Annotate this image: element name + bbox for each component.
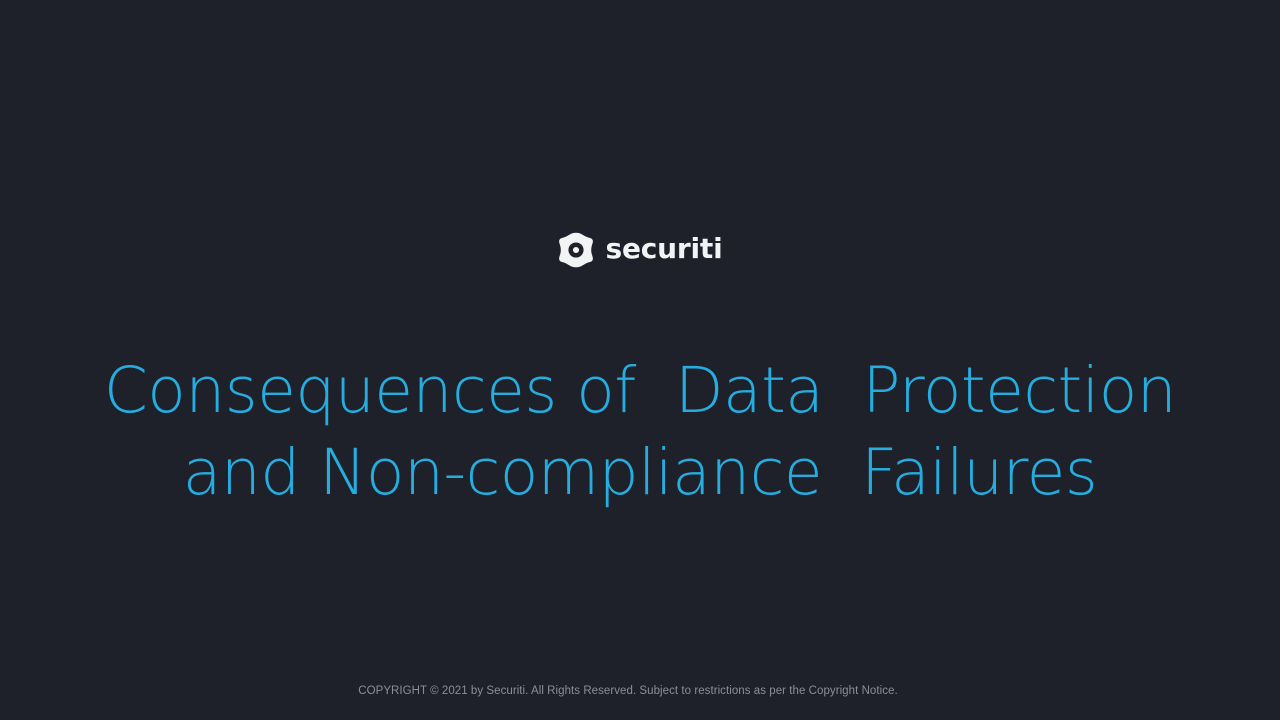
brand-lockup: securiti: [0, 232, 1280, 268]
brand-wordmark: securiti: [606, 235, 723, 265]
page-title: Consequences of Data Protection and Non-…: [60, 350, 1220, 514]
title-slide: securiti Consequences of Data Protection…: [0, 0, 1280, 720]
copyright-notice: COPYRIGHT © 2021 by Securiti. All Rights…: [0, 684, 1256, 699]
securiti-squircle-logo-icon: [558, 232, 594, 268]
